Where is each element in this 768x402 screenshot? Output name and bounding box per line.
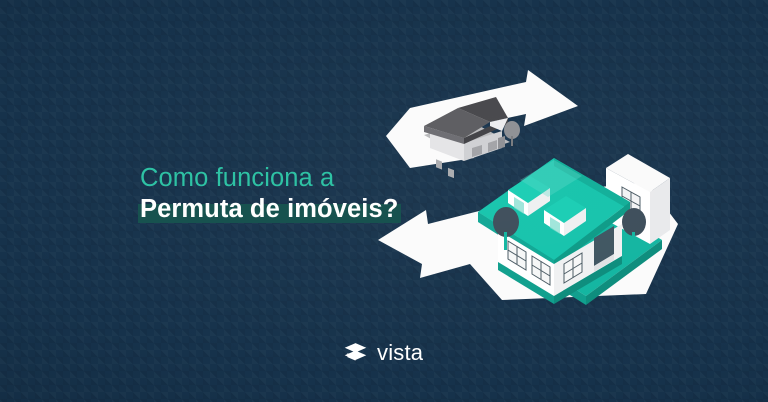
headline-line-1: Como funciona a [140, 164, 470, 193]
banner-canvas: Como funciona a Permuta de imóveis? vist… [0, 0, 768, 402]
vista-stacked-chevron-icon [343, 340, 368, 365]
vista-logo-wordmark: vista [377, 342, 423, 364]
vista-logo[interactable]: vista [343, 340, 423, 365]
headline-block: Como funciona a Permuta de imóveis? [140, 164, 470, 224]
headline-line-2: Permuta de imóveis? [140, 195, 398, 223]
headline-line-2-wrapper: Permuta de imóveis? [140, 194, 398, 224]
